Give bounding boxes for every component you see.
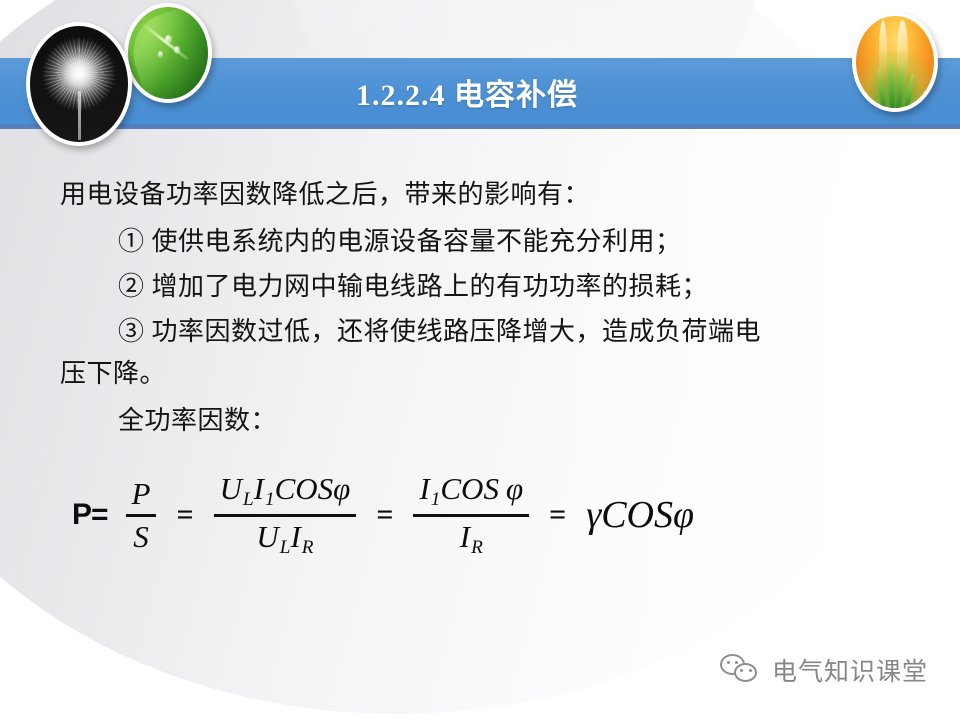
leaf-blade-shape: [124, 3, 212, 103]
symbol-cos: COS: [601, 494, 673, 536]
body-list-item-1: ① 使供电系统内的电源设备容量不能充分利用；: [118, 225, 682, 258]
equals-sign-3: =: [549, 498, 566, 532]
wechat-dot: [740, 669, 743, 672]
body-list-item-2: ② 增加了电力网中输电线路上的有功功率的损耗；: [118, 270, 708, 303]
header-banner-underline: [0, 124, 960, 129]
subscript-l: L: [279, 537, 291, 558]
equals-sign-1: =: [176, 498, 193, 532]
symbol-i: I: [254, 471, 264, 506]
fraction-numerator: I1COSφ: [413, 470, 529, 513]
symbol-i: I: [460, 519, 470, 554]
equals-sign-2: =: [376, 498, 393, 532]
watermark: 电气知识课堂: [720, 652, 928, 688]
fraction-numerator: ULI1COSφ: [214, 470, 357, 513]
dandelion-photo: [26, 22, 132, 146]
fraction-bar: [214, 514, 357, 517]
wechat-dot: [749, 669, 752, 672]
symbol-gamma: γ: [586, 494, 601, 536]
fraction-denominator: S: [127, 518, 155, 555]
slide-canvas: 1.2.2.4 电容补偿 用电设备功率因数降低之后，带来的影响有： ① 使供电系…: [0, 0, 960, 720]
symbol-cos: COS: [275, 471, 334, 506]
wechat-dot: [735, 661, 738, 664]
symbol-i: I: [290, 519, 300, 554]
fraction-denominator: IR: [454, 518, 489, 561]
body-list-item-3-continuation: 压下降。: [60, 357, 166, 390]
symbol-cos: COS: [440, 471, 499, 506]
power-factor-formula: P= P S = ULI1COSφ ULIR = I1COSφ IR = γCO…: [72, 455, 872, 575]
subscript-1: 1: [430, 489, 441, 510]
body-list-item-3: ③ 功率因数过低，还将使线路压降增大，造成负荷端电: [118, 315, 761, 348]
green-leaf-photo: [124, 3, 212, 103]
background-right-wash: [540, 120, 960, 720]
wechat-dot: [727, 661, 730, 664]
formula-label: 全功率因数：: [118, 404, 277, 437]
watermark-text: 电气知识课堂: [772, 652, 928, 688]
subscript-1: 1: [264, 489, 275, 510]
fraction-denominator: ULIR: [250, 518, 319, 561]
dandelion-puff-shape: [44, 39, 114, 109]
fraction-ulicos-over-ulir: ULI1COSφ ULIR: [214, 470, 357, 561]
fraction-bar: [126, 514, 157, 517]
wechat-bubble-front: [734, 663, 757, 682]
symbol-i: I: [419, 471, 429, 506]
symbol-phi: φ: [333, 471, 350, 506]
body-intro-line: 用电设备功率因数降低之后，带来的影响有：: [60, 178, 590, 211]
fraction-numerator: P: [126, 475, 157, 512]
subscript-r: R: [470, 537, 483, 558]
formula-result: γCOSφ: [586, 493, 694, 537]
grass-gradient-shape: [856, 51, 934, 108]
wechat-icon: [720, 654, 760, 686]
subscript-r: R: [301, 537, 314, 558]
fraction-icos-over-ir: I1COSφ IR: [413, 470, 529, 561]
formula-lead-label: P=: [72, 498, 108, 532]
subscript-l: L: [242, 489, 254, 510]
sunset-grass-photo: [852, 12, 938, 112]
fraction-p-over-s: P S: [126, 475, 157, 555]
fraction-bar: [413, 514, 529, 517]
symbol-phi: φ: [673, 494, 694, 536]
symbol-u: U: [256, 519, 278, 554]
symbol-u: U: [220, 471, 242, 506]
leaf-droplet-icon: [165, 35, 172, 44]
symbol-phi: φ: [506, 471, 523, 506]
